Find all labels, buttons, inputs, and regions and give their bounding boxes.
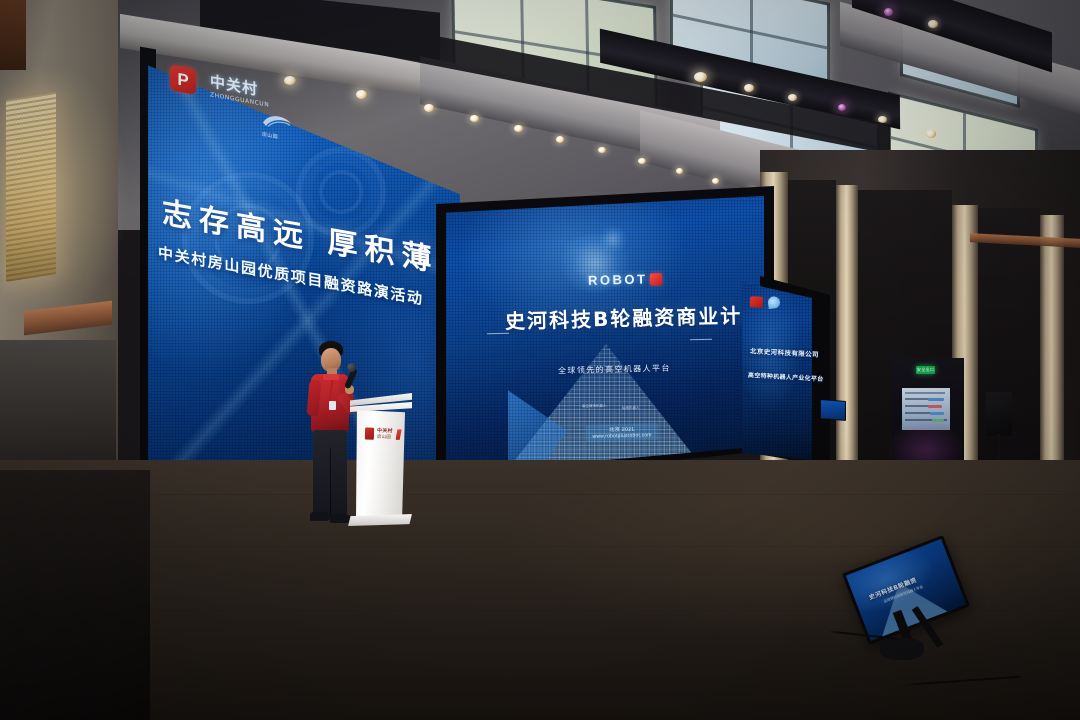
stage-light-3: [424, 104, 434, 112]
zhongguancun-logo-icon: P: [170, 64, 196, 95]
downlight-5: [926, 130, 936, 138]
stage-light-8: [638, 158, 646, 164]
microphone-head-icon: [347, 363, 356, 372]
right-screen-logo-red-icon: [750, 296, 764, 308]
accent-spot-purple-2: [884, 8, 893, 16]
right-screen-logo-group: [750, 295, 781, 309]
wall-column-2: [836, 185, 858, 475]
stage-light-2: [356, 90, 367, 99]
wall-column-4: [1040, 215, 1064, 480]
stage-light-10: [712, 178, 719, 184]
pa-speaker: [986, 392, 1012, 436]
presenter-shoe-right: [330, 514, 351, 523]
lectern-logo-text: 中关村 房山园: [377, 428, 393, 440]
slide-tower-label-2: 除锈机器人: [622, 406, 640, 411]
slide-tower-label-1: 高空清洗机器人: [582, 404, 607, 410]
downlight-6: [928, 20, 938, 28]
robot-brand-logo: ROBOT: [588, 271, 663, 288]
wall-left-top-wood: [0, 0, 26, 70]
robot-brand-word: ROBOT: [588, 271, 648, 287]
stage-light-7: [598, 147, 606, 153]
accent-spot-purple-1: [838, 104, 846, 111]
slide-footer-box: 北京 2021 www.robotplusrobot.com: [586, 423, 658, 442]
booth-monitor-chip: [928, 405, 942, 408]
booth-monitor-chip: [930, 412, 944, 415]
booth-monitor-chip: [928, 398, 944, 401]
exit-sign: 安全出口: [916, 366, 935, 374]
foreground-shadow-left: [0, 470, 150, 720]
floor-seam: [0, 494, 1080, 495]
presenter-shoe-left: [310, 512, 330, 521]
presenter-badge: [329, 401, 336, 410]
wall-sconce: [6, 92, 56, 282]
lectern-logo-mark-icon: [365, 428, 374, 440]
exit-sign-label: 安全出口: [916, 366, 935, 373]
slide-footer-url: www.robotplusrobot.com: [590, 432, 654, 440]
lectern-body: [356, 410, 405, 520]
stage-light-4: [470, 115, 479, 122]
right-screen-logo-blue-icon: [767, 296, 780, 309]
lectern-logo-secondary: 房山园: [377, 434, 391, 439]
downlight-3: [788, 94, 797, 101]
downlight-2: [744, 84, 754, 92]
presenter-leg-split: [330, 448, 331, 516]
stage-light-9: [676, 168, 683, 174]
conference-stage-photo: P 中关村 ZHONGGUANCUN 房山园 志存高远 厚积薄发 中关村房山园优…: [0, 0, 1080, 720]
robot-plus-mark-icon: [650, 273, 662, 285]
booth-monitor-row: [905, 392, 945, 394]
stage-light-1: [284, 76, 296, 85]
auxiliary-display: [820, 399, 846, 421]
lectern-logo-accent-icon: [395, 429, 401, 440]
stage-light-5: [514, 125, 523, 132]
zhongguancun-logo-mark: P: [177, 70, 188, 89]
wall-panel-dark-3: [978, 208, 1040, 483]
confidence-monitor-foot: [880, 638, 924, 660]
lectern-logo: 中关村 房山园: [365, 428, 402, 441]
downlight-1: [694, 72, 707, 82]
stage-light-6: [556, 136, 564, 143]
